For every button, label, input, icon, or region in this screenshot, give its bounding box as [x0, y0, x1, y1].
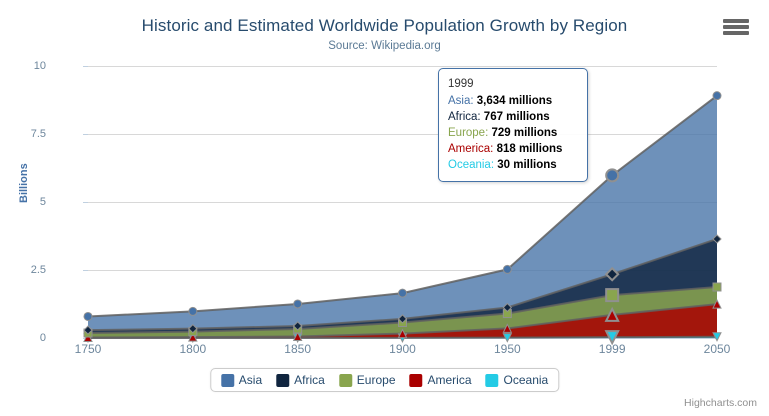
y-axis-label-7.5: 7.5 [0, 128, 46, 140]
x-axis-label-2050: 2050 [704, 342, 731, 356]
legend-swatch-oceania [486, 374, 499, 387]
tooltip-series-name: Europe: [448, 127, 491, 139]
tooltip-row-africa: Africa: 767 millions [448, 109, 578, 125]
tooltip-series-name: Africa: [448, 111, 484, 123]
legend-label-europe: Europe [357, 373, 396, 387]
tooltip-row-asia: Asia: 3,634 millions [448, 93, 578, 109]
legend-label-oceania: Oceania [504, 373, 549, 387]
tooltip-series-name: Oceania: [448, 159, 497, 171]
plot-area [88, 66, 717, 338]
point-asia-1800 [189, 307, 197, 315]
point-asia-1850 [294, 300, 302, 308]
tooltip-series-value: 3,634 millions [477, 95, 552, 107]
legend-label-asia: Asia [239, 373, 262, 387]
legend-swatch-europe [339, 374, 352, 387]
point-europe-1999 [606, 289, 618, 301]
series-layer [88, 66, 717, 338]
legend-swatch-america [410, 374, 423, 387]
point-asia-1750 [84, 312, 92, 320]
tooltip-row-oceania: Oceania: 30 millions [448, 157, 578, 173]
point-asia-1999 [606, 169, 618, 181]
menu-bar-1 [723, 19, 749, 23]
legend-label-america: America [428, 373, 472, 387]
tooltip-series-name: Asia: [448, 95, 477, 107]
tooltip-rows: Asia: 3,634 millionsAfrica: 767 millions… [448, 93, 578, 173]
tooltip: 1999 Asia: 3,634 millionsAfrica: 767 mil… [438, 68, 588, 182]
point-asia-1900 [399, 289, 407, 297]
y-axis-label-5: 5 [0, 196, 46, 208]
point-asia-1950 [503, 265, 511, 273]
x-axis-label-1850: 1850 [284, 342, 311, 356]
y-axis-label-2.5: 2.5 [0, 264, 46, 276]
tooltip-row-europe: Europe: 729 millions [448, 125, 578, 141]
chart-subtitle: Source: Wikipedia.org [0, 40, 769, 52]
tooltip-header: 1999 [448, 76, 578, 92]
x-axis-label-1950: 1950 [494, 342, 521, 356]
legend-item-oceania[interactable]: Oceania [486, 373, 549, 387]
legend-swatch-africa [276, 374, 289, 387]
point-asia-2050 [713, 92, 721, 100]
tooltip-series-value: 818 millions [497, 143, 563, 155]
chart-title: Historic and Estimated Worldwide Populat… [0, 16, 769, 36]
highcharts-container: Historic and Estimated Worldwide Populat… [0, 0, 769, 416]
legend-item-asia[interactable]: Asia [221, 373, 262, 387]
legend-item-africa[interactable]: Africa [276, 373, 325, 387]
y-axis-label-0: 0 [0, 332, 46, 344]
tooltip-series-name: America: [448, 143, 497, 155]
x-axis-label-1900: 1900 [389, 342, 416, 356]
tooltip-row-america: America: 818 millions [448, 141, 578, 157]
legend-item-europe[interactable]: Europe [339, 373, 396, 387]
credits-label[interactable]: Highcharts.com [684, 397, 757, 409]
menu-bar-3 [723, 31, 749, 35]
legend-label-africa: Africa [294, 373, 325, 387]
tooltip-series-value: 767 millions [484, 111, 550, 123]
hamburger-menu-icon[interactable] [723, 17, 749, 37]
point-europe-2050 [713, 283, 721, 291]
y-axis-label-10: 10 [0, 60, 46, 72]
legend-item-america[interactable]: America [410, 373, 472, 387]
x-axis-label-1750: 1750 [75, 342, 102, 356]
legend-swatch-asia [221, 374, 234, 387]
chart-legend[interactable]: Asia Africa Europe America Oceania [210, 368, 559, 392]
x-axis-label-1800: 1800 [179, 342, 206, 356]
tooltip-series-value: 30 millions [497, 159, 556, 171]
tooltip-series-value: 729 millions [491, 127, 557, 139]
menu-bar-2 [723, 25, 749, 29]
